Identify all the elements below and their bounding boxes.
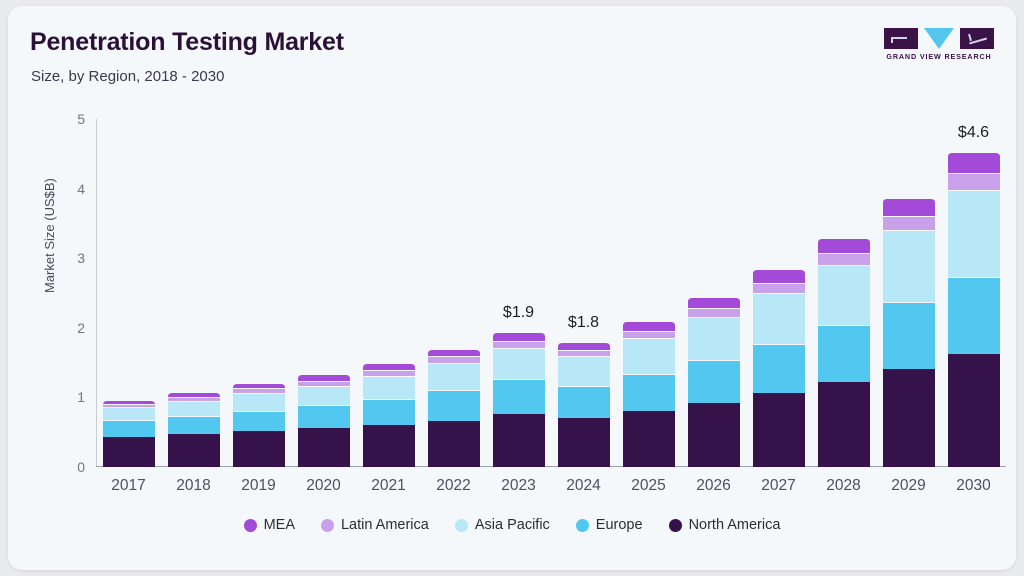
- page-title: Penetration Testing Market: [30, 28, 344, 57]
- x-axis-tick-2018: 2018: [161, 477, 226, 495]
- legend-item-europe[interactable]: Europe: [576, 517, 643, 533]
- bar-segment-2028-latin-america[interactable]: [818, 253, 870, 265]
- bar-segment-2027-europe[interactable]: [753, 344, 805, 393]
- x-axis-tick-2027: 2027: [746, 477, 811, 495]
- bar-segment-2030-latin-america[interactable]: [948, 173, 1000, 190]
- bar-value-label-2024: $1.8: [568, 314, 599, 332]
- bar-segment-2021-europe[interactable]: [363, 399, 415, 425]
- bar-group-2030[interactable]: $4.6: [948, 152, 1000, 467]
- bar-segment-2027-north-america[interactable]: [753, 393, 805, 467]
- bar-segment-2024-asia-pacific[interactable]: [558, 356, 610, 385]
- bar-value-label-2023: $1.9: [503, 304, 534, 322]
- y-axis-tick-0: 0: [77, 459, 85, 475]
- bar-segment-2026-north-america[interactable]: [688, 403, 740, 467]
- bar-segment-2029-europe[interactable]: [883, 302, 935, 369]
- x-axis-tick-2017: 2017: [96, 477, 161, 495]
- bar-group-2023[interactable]: $1.9: [493, 332, 545, 467]
- bar-segment-2022-europe[interactable]: [428, 390, 480, 421]
- legend-label-north-america: North America: [689, 517, 781, 533]
- x-axis-tick-2026: 2026: [681, 477, 746, 495]
- bar-group-2018[interactable]: [168, 392, 220, 467]
- bar-group-2019[interactable]: [233, 383, 285, 467]
- bar-segment-2029-north-america[interactable]: [883, 369, 935, 467]
- bar-segment-2022-mea[interactable]: [428, 349, 480, 357]
- bar-segment-2018-europe[interactable]: [168, 416, 220, 435]
- y-axis-tick-5: 5: [77, 111, 85, 127]
- bar-segment-2029-asia-pacific[interactable]: [883, 230, 935, 302]
- bar-segment-2026-latin-america[interactable]: [688, 308, 740, 317]
- logo-rect-right-icon: [960, 28, 994, 49]
- legend-swatch-mea-icon: [244, 519, 257, 532]
- bar-chart-plot-area: 012345 $1.9$1.8$4.6 20172018201920202021…: [96, 119, 1006, 467]
- bar-segment-2020-asia-pacific[interactable]: [298, 386, 350, 405]
- bar-segment-2023-mea[interactable]: [493, 332, 545, 341]
- bar-segment-2026-europe[interactable]: [688, 360, 740, 403]
- bar-value-label-2030: $4.6: [958, 124, 989, 142]
- bar-segment-2018-asia-pacific[interactable]: [168, 401, 220, 416]
- bar-group-2026[interactable]: [688, 297, 740, 467]
- bar-segment-2029-latin-america[interactable]: [883, 216, 935, 230]
- x-axis-tick-2030: 2030: [941, 477, 1006, 495]
- y-axis-tick-2: 2: [77, 320, 85, 336]
- y-axis-line: [96, 119, 97, 467]
- x-axis-tick-2023: 2023: [486, 477, 551, 495]
- logo-left-bar-h: [891, 37, 907, 39]
- chart-legend: MEALatin AmericaAsia PacificEuropeNorth …: [8, 517, 1016, 533]
- legend-label-mea: MEA: [264, 517, 295, 533]
- legend-label-latin-america: Latin America: [341, 517, 429, 533]
- bar-group-2017[interactable]: [103, 400, 155, 467]
- logo-right-bar-h: [969, 38, 987, 44]
- bar-segment-2019-europe[interactable]: [233, 411, 285, 431]
- bar-segment-2021-asia-pacific[interactable]: [363, 376, 415, 399]
- logo-marks: [884, 28, 994, 50]
- bar-segment-2030-europe[interactable]: [948, 277, 1000, 354]
- bar-segment-2025-europe[interactable]: [623, 374, 675, 411]
- y-axis-tick-4: 4: [77, 181, 85, 197]
- bar-group-2022[interactable]: [428, 349, 480, 467]
- bar-segment-2017-north-america[interactable]: [103, 437, 155, 467]
- x-axis-tick-2019: 2019: [226, 477, 291, 495]
- bar-segment-2027-mea[interactable]: [753, 269, 805, 282]
- x-axis-tick-2021: 2021: [356, 477, 421, 495]
- x-axis-tick-2029: 2029: [876, 477, 941, 495]
- bar-segment-2023-latin-america[interactable]: [493, 341, 545, 348]
- legend-item-north-america[interactable]: North America: [669, 517, 781, 533]
- bar-group-2029[interactable]: [883, 198, 935, 467]
- y-axis-label: Market Size (US$B): [42, 178, 57, 293]
- bar-segment-2017-asia-pacific[interactable]: [103, 407, 155, 420]
- bar-segment-2026-mea[interactable]: [688, 297, 740, 308]
- bar-segment-2021-mea[interactable]: [363, 363, 415, 370]
- bar-segment-2030-north-america[interactable]: [948, 354, 1000, 467]
- logo-right-bar-v: [968, 34, 971, 41]
- bar-segment-2023-europe[interactable]: [493, 379, 545, 414]
- bar-segment-2028-mea[interactable]: [818, 238, 870, 253]
- legend-item-mea[interactable]: MEA: [244, 517, 295, 533]
- legend-label-europe: Europe: [596, 517, 643, 533]
- bar-segment-2023-asia-pacific[interactable]: [493, 348, 545, 379]
- bar-segment-2030-asia-pacific[interactable]: [948, 190, 1000, 277]
- bar-segment-2019-north-america[interactable]: [233, 431, 285, 467]
- bar-group-2025[interactable]: [623, 321, 675, 467]
- bar-segment-2025-asia-pacific[interactable]: [623, 338, 675, 373]
- x-axis-tick-2020: 2020: [291, 477, 356, 495]
- bar-segment-2028-europe[interactable]: [818, 325, 870, 382]
- bar-group-2028[interactable]: [818, 238, 870, 467]
- legend-item-latin-america[interactable]: Latin America: [321, 517, 429, 533]
- bar-segment-2025-mea[interactable]: [623, 321, 675, 331]
- bar-segment-2028-asia-pacific[interactable]: [818, 265, 870, 325]
- bar-segment-2018-north-america[interactable]: [168, 434, 220, 467]
- logo-triangle-icon: [924, 28, 954, 49]
- logo-left-bar-v: [891, 37, 893, 43]
- bar-segment-2022-north-america[interactable]: [428, 421, 480, 467]
- bar-segment-2028-north-america[interactable]: [818, 382, 870, 467]
- bar-segment-2019-asia-pacific[interactable]: [233, 393, 285, 410]
- bar-segment-2029-mea[interactable]: [883, 198, 935, 216]
- y-axis-tick-3: 3: [77, 250, 85, 266]
- bar-segment-2025-latin-america[interactable]: [623, 331, 675, 339]
- bar-segment-2020-europe[interactable]: [298, 405, 350, 428]
- x-axis-tick-2022: 2022: [421, 477, 486, 495]
- bar-segment-2023-north-america[interactable]: [493, 414, 545, 467]
- logo-rect-left-icon: [884, 28, 918, 49]
- bar-segment-2020-north-america[interactable]: [298, 428, 350, 467]
- y-axis-tick-1: 1: [77, 389, 85, 405]
- legend-item-asia-pacific[interactable]: Asia Pacific: [455, 517, 550, 533]
- bar-segment-2024-north-america[interactable]: [558, 418, 610, 467]
- bar-segment-2027-latin-america[interactable]: [753, 283, 805, 293]
- legend-swatch-latin-america-icon: [321, 519, 334, 532]
- legend-swatch-asia-pacific-icon: [455, 519, 468, 532]
- logo-wordmark: GRAND VIEW RESEARCH: [884, 52, 994, 61]
- bar-group-2027[interactable]: [753, 269, 805, 467]
- legend-swatch-north-america-icon: [669, 519, 682, 532]
- bar-segment-2027-asia-pacific[interactable]: [753, 293, 805, 344]
- bar-group-2024[interactable]: $1.8: [558, 342, 610, 467]
- legend-swatch-europe-icon: [576, 519, 589, 532]
- bar-segment-2021-north-america[interactable]: [363, 425, 415, 467]
- chart-card: Penetration Testing Market Size, by Regi…: [8, 6, 1016, 570]
- bar-segment-2026-asia-pacific[interactable]: [688, 317, 740, 360]
- bar-segment-2025-north-america[interactable]: [623, 411, 675, 467]
- grand-view-research-logo: GRAND VIEW RESEARCH: [884, 28, 994, 64]
- legend-label-asia-pacific: Asia Pacific: [475, 517, 550, 533]
- page-subtitle: Size, by Region, 2018 - 2030: [31, 68, 224, 85]
- bar-group-2021[interactable]: [363, 363, 415, 467]
- bar-segment-2024-europe[interactable]: [558, 386, 610, 418]
- x-axis-tick-2025: 2025: [616, 477, 681, 495]
- screenshot-page: Penetration Testing Market Size, by Regi…: [0, 0, 1024, 576]
- x-axis-tick-2024: 2024: [551, 477, 616, 495]
- bar-segment-2017-europe[interactable]: [103, 420, 155, 437]
- x-axis-tick-2028: 2028: [811, 477, 876, 495]
- bar-segment-2022-asia-pacific[interactable]: [428, 363, 480, 391]
- bar-group-2020[interactable]: [298, 374, 350, 467]
- bar-segment-2030-mea[interactable]: [948, 152, 1000, 174]
- bar-segment-2024-mea[interactable]: [558, 342, 610, 350]
